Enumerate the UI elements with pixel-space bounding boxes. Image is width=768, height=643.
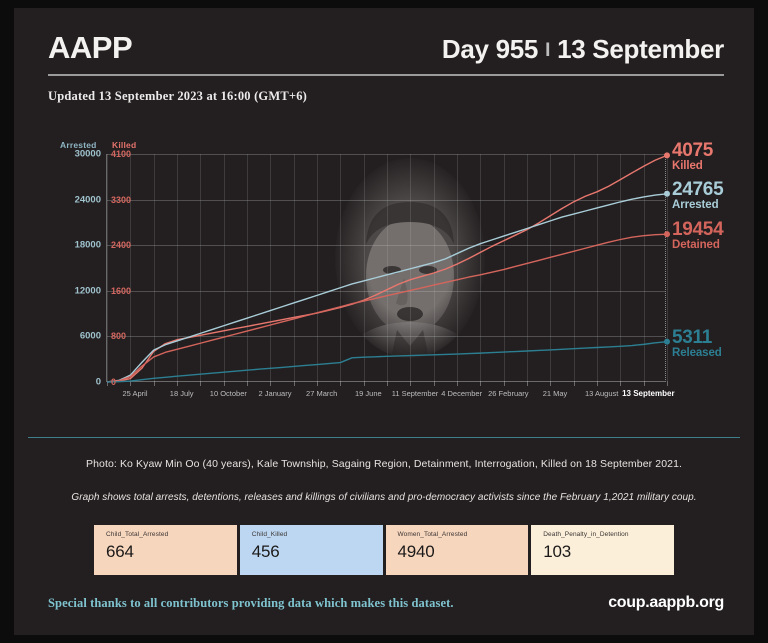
graph-description: Graph shows total arrests, detentions, r… [14, 492, 754, 503]
x-axis-tick: 2 January [259, 389, 292, 398]
chart: Arrested Killed [48, 140, 724, 420]
photo-caption: Photo: Ko Kyaw Min Oo (40 years), Kale T… [14, 458, 754, 470]
day-date-stamp: Day 955I13 September [442, 34, 724, 65]
series-endpoint-detained [664, 231, 670, 237]
x-axis-tick: 19 June [355, 389, 382, 398]
x-axis-tick: 25 April [122, 389, 147, 398]
x-axis-tick: 13 September [622, 389, 674, 398]
stat-key: Women_Total_Arrested [398, 531, 529, 538]
header-rule [48, 74, 724, 76]
stat-key: Child_Killed [252, 531, 383, 538]
website-url[interactable]: coup.aappb.org [608, 594, 724, 612]
stat-box: Child_Killed456 [240, 525, 386, 575]
series-endpoint-killed [664, 152, 670, 158]
end-label-released: 5311Released [672, 328, 722, 360]
current-date: 13 September [557, 34, 724, 64]
stat-box: Women_Total_Arrested4940 [386, 525, 532, 575]
end-label-value: 19454 [672, 220, 723, 239]
y-axis-right-tick: 0 [111, 377, 116, 387]
stat-key: Child_Total_Arrested [106, 531, 237, 538]
end-label-detained: 19454Detained [672, 220, 723, 252]
y-axis-left-tick: 24000 [75, 194, 101, 205]
x-axis-tick: 27 March [306, 389, 337, 398]
y-axis-left-tick: 6000 [80, 331, 101, 342]
y-axis-left-tick: 0 [96, 377, 101, 388]
end-label-caption: Killed [672, 161, 713, 173]
stat-value: 664 [106, 542, 237, 562]
plot-area: 0600012000180002400030000080016002400330… [106, 154, 666, 382]
footer: Special thanks to all contributors provi… [48, 594, 724, 612]
stat-value: 456 [252, 542, 383, 562]
series-line-released [107, 342, 667, 382]
stat-boxes: Child_Total_Arrested664Child_Killed456Wo… [94, 525, 674, 575]
series-endpoint-arrested [664, 191, 670, 197]
stat-value: 4940 [398, 542, 529, 562]
series-line-detained [107, 234, 667, 382]
end-label-killed: 4075Killed [672, 141, 713, 173]
y-axis-right-tick: 2400 [111, 240, 131, 250]
series-line-arrested [107, 194, 667, 382]
y-axis-right-tick: 4100 [111, 149, 131, 159]
brand-title: AAPP [48, 30, 132, 66]
x-axis-tick: 11 September [392, 389, 439, 398]
y-axis-right-tick: 800 [111, 331, 126, 341]
end-label-caption: Detained [672, 240, 723, 252]
end-label-caption: Released [672, 348, 722, 360]
day-counter: Day 955 [442, 34, 538, 64]
stat-value: 103 [543, 542, 674, 562]
end-label-value: 4075 [672, 141, 713, 160]
end-label-value: 5311 [672, 328, 722, 347]
x-axis-tick: 21 May [543, 389, 568, 398]
x-axis-tick: 18 July [170, 389, 194, 398]
thanks-text: Special thanks to all contributors provi… [48, 596, 454, 611]
y-axis-right-tick: 1600 [111, 286, 131, 296]
x-axis-tick: 4 December [441, 389, 482, 398]
x-axis-tickmark [667, 381, 668, 386]
stat-box: Child_Total_Arrested664 [94, 525, 240, 575]
series-lines [107, 154, 667, 382]
y-axis-left-tick: 30000 [75, 149, 101, 160]
x-axis-tick: 10 October [210, 389, 247, 398]
end-label-caption: Arrested [672, 200, 723, 212]
poster-canvas: AAPP Day 955I13 September Updated 13 Sep… [14, 8, 754, 635]
x-axis-tick: 26 February [488, 389, 528, 398]
y-axis-left-tick: 12000 [75, 285, 101, 296]
stat-key: Death_Penalty_in_Detention [543, 531, 674, 538]
header-row: AAPP Day 955I13 September [48, 30, 724, 66]
vertical-gridline [667, 154, 668, 381]
series-endpoint-released [664, 339, 670, 345]
day-date-separator: I [545, 40, 550, 62]
updated-timestamp: Updated 13 September 2023 at 16:00 (GMT+… [48, 89, 724, 104]
section-divider [28, 437, 740, 438]
header: AAPP Day 955I13 September Updated 13 Sep… [48, 30, 724, 104]
y-axis-left-tick: 18000 [75, 240, 101, 251]
y-axis-right-tick: 3300 [111, 195, 131, 205]
stat-box: Death_Penalty_in_Detention103 [531, 525, 674, 575]
end-label-arrested: 24765Arrested [672, 180, 723, 212]
end-label-value: 24765 [672, 180, 723, 199]
x-axis-tick: 13 August [585, 389, 618, 398]
